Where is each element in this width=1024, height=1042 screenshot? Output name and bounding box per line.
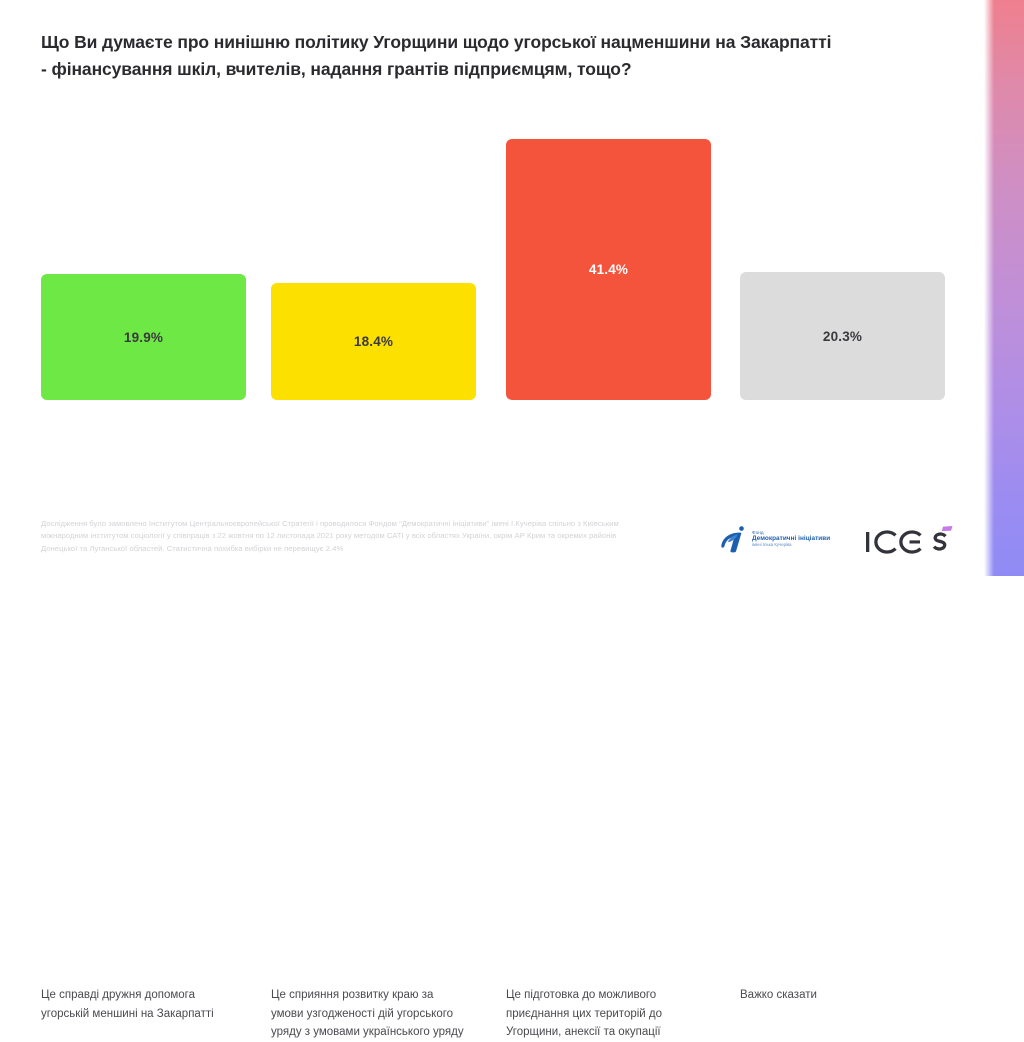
bar-3[interactable]: 41.4% [506, 139, 711, 400]
bar-value-label-4: 20.3% [823, 329, 862, 344]
bar-value-label-1: 19.9% [124, 330, 163, 345]
ices-logo-icon [864, 525, 956, 557]
dif-person-icon [720, 524, 746, 554]
bar-wrapper-3: 41.4% [506, 139, 711, 400]
bar-caption-3: Це підготовка до можливого приєднання ци… [506, 986, 702, 1042]
methodology-footnote: Дослідження було замовлено Інститутом Це… [41, 518, 631, 555]
bar-caption-4: Важко сказати [740, 986, 936, 1005]
slide-canvas: Що Ви думаєте про нинішню політику Угорщ… [0, 0, 1024, 576]
logo-group: Фонд Демократичні ініціативи імені Ілька… [720, 516, 970, 564]
bar-2[interactable]: 18.4% [271, 283, 476, 400]
bar-value-label-2: 18.4% [354, 334, 393, 349]
bar-wrapper-2: 18.4% [271, 283, 476, 400]
bar-4[interactable]: 20.3% [740, 272, 945, 400]
bar-wrapper-1: 19.9% [41, 274, 246, 400]
bar-value-label-3: 41.4% [589, 262, 628, 277]
dif-logo-line3: імені Ілька Кучеріва [752, 543, 830, 548]
bar-caption-2: Це сприяння розвитку краю за умови узгод… [271, 986, 467, 1042]
bar-wrapper-4: 20.3% [740, 272, 945, 400]
ices-logo [864, 525, 956, 557]
dif-logo: Фонд Демократичні ініціативи імені Ілька… [720, 524, 830, 554]
dif-logo-text: Фонд Демократичні ініціативи імені Ілька… [752, 530, 830, 548]
bar-chart: 19.9% Це справді дружня допомога угорськ… [0, 0, 1024, 576]
bar-1[interactable]: 19.9% [41, 274, 246, 400]
bar-caption-1: Це справді дружня допомога угорській мен… [41, 986, 237, 1023]
